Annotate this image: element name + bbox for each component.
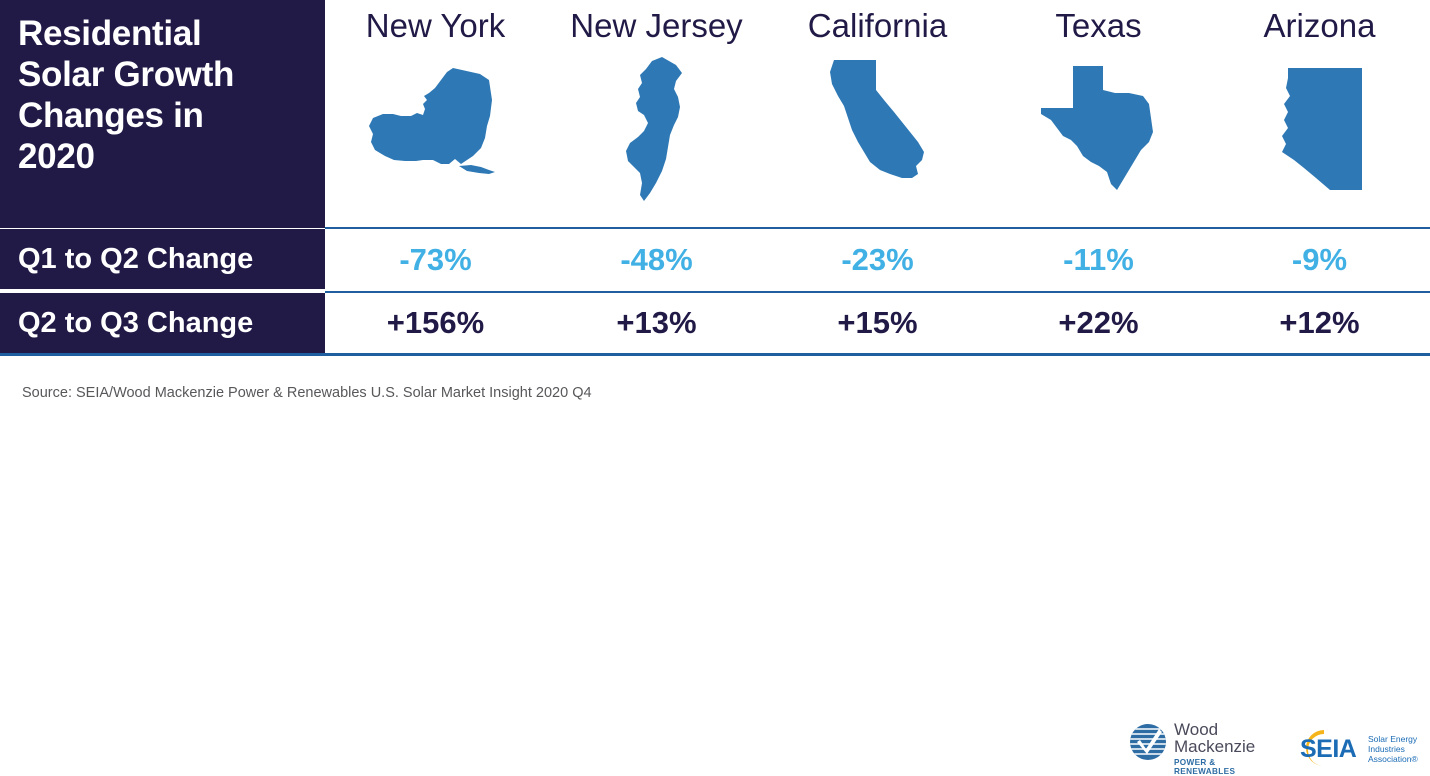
state-column-new-jersey: New Jersey (546, 0, 767, 228)
state-name-label: New Jersey (570, 8, 742, 44)
state-column-texas: Texas (988, 0, 1209, 228)
data-table: Residential Solar Growth Changes in 2020… (0, 0, 1430, 356)
value-cell: +12% (1209, 293, 1430, 353)
state-header-row: New York New Jersey California (325, 0, 1430, 228)
california-map-icon (824, 50, 932, 210)
state-name-label: California (808, 8, 947, 44)
table-row: Q1 to Q2 Change -73% -48% -23% -11% -9% (0, 229, 1430, 291)
svg-text:Industries: Industries (1368, 744, 1405, 754)
source-note: Source: SEIA/Wood Mackenzie Power & Rene… (22, 385, 592, 401)
wood-mackenzie-logo: Wood Mackenzie POWER & RENEWABLES (1128, 722, 1276, 772)
row-label-q1-q2: Q1 to Q2 Change (0, 229, 325, 291)
new-jersey-map-icon (618, 50, 696, 210)
texas-map-icon (1037, 50, 1161, 210)
state-column-california: California (767, 0, 988, 228)
state-name-label: New York (366, 8, 505, 44)
seia-logo: SEIA Solar Energy Industries Association… (1286, 724, 1426, 772)
footer: Source: SEIA/Wood Mackenzie Power & Rene… (0, 356, 1430, 433)
seia-logo-icon: SEIA Solar Energy Industries Association… (1286, 724, 1426, 772)
value-cell: -9% (1209, 229, 1430, 291)
value-cell: -11% (988, 229, 1209, 291)
value-cell: -23% (767, 229, 988, 291)
arizona-map-icon (1268, 50, 1372, 210)
wm-line-2: Mackenzie (1174, 739, 1276, 756)
value-cell: +156% (325, 293, 546, 353)
wood-mackenzie-wordmark: Wood Mackenzie POWER & RENEWABLES (1174, 722, 1276, 776)
state-name-label: Arizona (1264, 8, 1376, 44)
page-title: Residential Solar Growth Changes in 2020 (18, 14, 307, 178)
wm-tagline: POWER & RENEWABLES (1174, 758, 1276, 776)
value-cell: +13% (546, 293, 767, 353)
value-cell: +15% (767, 293, 988, 353)
state-name-label: Texas (1055, 8, 1141, 44)
new-york-map-icon (361, 50, 511, 210)
svg-text:Solar Energy: Solar Energy (1368, 734, 1418, 744)
value-cell: -73% (325, 229, 546, 291)
wm-line-1: Wood (1174, 722, 1276, 739)
value-cell: +22% (988, 293, 1209, 353)
state-column-arizona: Arizona (1209, 0, 1430, 228)
row-values-q1-q2: -73% -48% -23% -11% -9% (325, 229, 1430, 291)
state-column-new-york: New York (325, 0, 546, 228)
value-cell: -48% (546, 229, 767, 291)
table-row: Q2 to Q3 Change +156% +13% +15% +22% +12… (0, 293, 1430, 353)
row-label-q2-q3: Q2 to Q3 Change (0, 293, 325, 353)
row-values-q2-q3: +156% +13% +15% +22% +12% (325, 293, 1430, 353)
infographic-root: Residential Solar Growth Changes in 2020… (0, 0, 1430, 433)
title-block: Residential Solar Growth Changes in 2020 (0, 0, 325, 228)
wood-mackenzie-mark-icon (1128, 722, 1168, 762)
svg-text:SEIA: SEIA (1300, 735, 1357, 763)
svg-text:Association®: Association® (1368, 754, 1418, 764)
